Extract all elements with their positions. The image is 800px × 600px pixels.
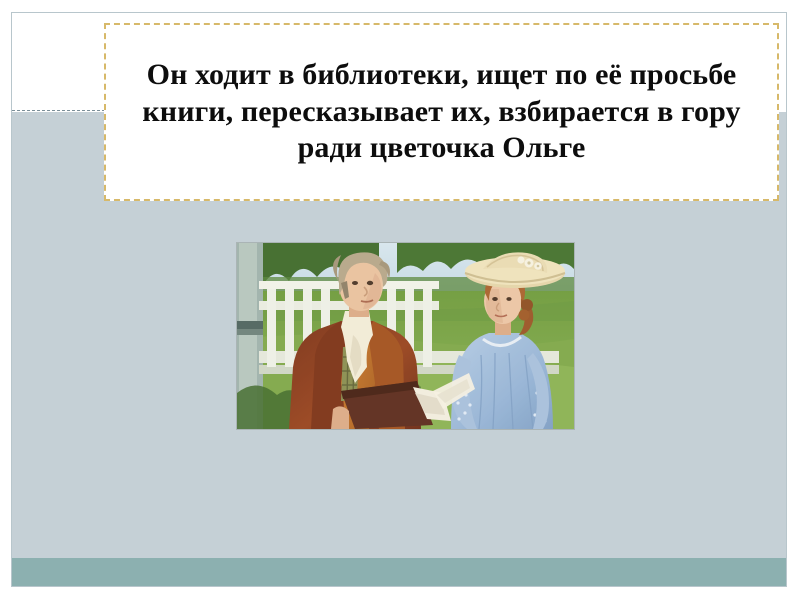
photo-illustration bbox=[237, 243, 574, 429]
title-placeholder[interactable]: Он ходит в библиотеки, ищет по её просьб… bbox=[104, 23, 779, 201]
header-divider-line bbox=[12, 110, 105, 111]
slide-bottom-accent-strip bbox=[12, 558, 786, 586]
slide-photo[interactable] bbox=[237, 243, 574, 429]
slide-canvas: Он ходит в библиотеки, ищет по её просьб… bbox=[11, 12, 787, 587]
slide-title: Он ходит в библиотеки, ищет по её просьб… bbox=[106, 57, 777, 167]
